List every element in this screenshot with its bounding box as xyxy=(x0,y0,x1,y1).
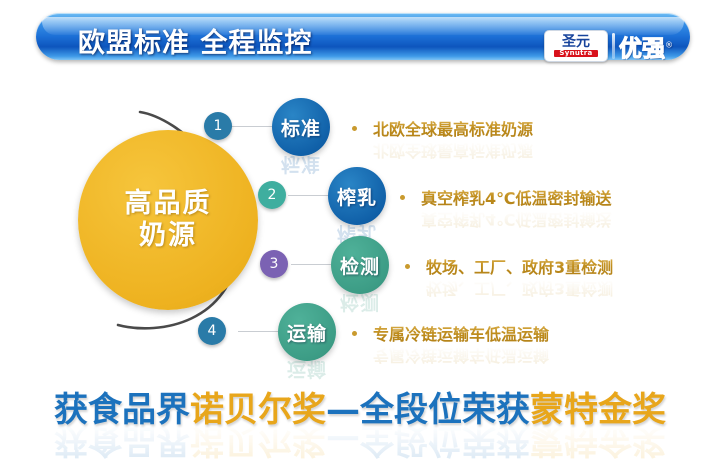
bullet-icon-3 xyxy=(405,264,410,269)
stage-label-testing: 检测 xyxy=(340,252,380,279)
description-reflection-1: 北欧全球最高标准奶源 xyxy=(373,140,533,164)
stage-circle-testing[interactable]: 检测 检测 xyxy=(331,236,389,294)
step-number-3[interactable]: 3 xyxy=(260,250,288,278)
step-number-1[interactable]: 1 xyxy=(204,112,232,140)
process-diagram: 高品质 奶源 1 2 3 4 标准 标准 榨乳 榨乳 检测 检测 运输 xyxy=(0,78,720,373)
footer-slogan-reflection: 获食品界诺贝尔奖—全段位荣获蒙特金奖 xyxy=(0,419,720,468)
bullet-icon-1 xyxy=(352,126,357,131)
brand-name-en: Synutra xyxy=(554,50,597,57)
sub-brand-name: 优强® xyxy=(619,29,673,63)
description-testing: 牧场、工厂、政府3重检测 xyxy=(426,254,613,278)
description-reflection-2: 真空榨乳4℃低温密封输送 xyxy=(421,209,612,233)
description-standard: 北欧全球最高标准奶源 xyxy=(373,116,533,140)
description-reflection-4: 专属冷链运输车低温运输 xyxy=(373,345,549,369)
step-number-1-label: 1 xyxy=(214,118,223,134)
description-row-transport: 专属冷链运输车低温运输 专属冷链运输车低温运输 xyxy=(352,321,549,345)
description-row-milking: 真空榨乳4℃低温密封输送 真空榨乳4℃低温密封输送 xyxy=(400,185,612,209)
description-row-testing: 牧场、工厂、政府3重检测 牧场、工厂、政府3重检测 xyxy=(405,254,613,278)
bullet-icon-4 xyxy=(352,331,357,336)
brand-logo: 圣元 Synutra 优强® xyxy=(544,31,673,61)
description-row-standard: 北欧全球最高标准奶源 北欧全球最高标准奶源 xyxy=(352,116,533,140)
logo-divider xyxy=(612,33,615,59)
stage-label-transport: 运输 xyxy=(287,319,327,346)
synutra-logo-box: 圣元 Synutra xyxy=(544,30,608,62)
description-reflection-3: 牧场、工厂、政府3重检测 xyxy=(426,278,613,302)
stage-label-milking: 榨乳 xyxy=(337,183,377,210)
registered-trademark-icon: ® xyxy=(665,40,673,49)
step-number-2[interactable]: 2 xyxy=(258,181,286,209)
hub-line-2: 奶源 xyxy=(139,220,197,252)
step-number-4-label: 4 xyxy=(208,323,217,339)
sub-brand-text: 优强 xyxy=(619,36,665,62)
step-number-4[interactable]: 4 xyxy=(198,317,226,345)
page-title: 欧盟标准 全程监控 xyxy=(78,21,312,60)
brand-name-cn: 圣元 xyxy=(562,35,590,49)
step-number-2-label: 2 xyxy=(268,187,277,203)
header-banner: 欧盟标准 全程监控 圣元 Synutra 优强® xyxy=(36,13,690,60)
description-milking: 真空榨乳4℃低温密封输送 xyxy=(421,185,612,209)
bullet-icon-2 xyxy=(400,195,405,200)
description-transport: 专属冷链运输车低温运输 xyxy=(373,321,549,345)
stage-label-standard: 标准 xyxy=(281,114,321,141)
stage-circle-milking[interactable]: 榨乳 榨乳 xyxy=(328,167,386,225)
hub-line-1: 高品质 xyxy=(125,188,212,220)
step-number-3-label: 3 xyxy=(270,256,279,272)
stage-circle-transport[interactable]: 运输 运输 xyxy=(278,303,336,361)
hub-circle: 高品质 奶源 xyxy=(78,130,258,310)
stage-circle-standard[interactable]: 标准 标准 xyxy=(272,98,330,156)
